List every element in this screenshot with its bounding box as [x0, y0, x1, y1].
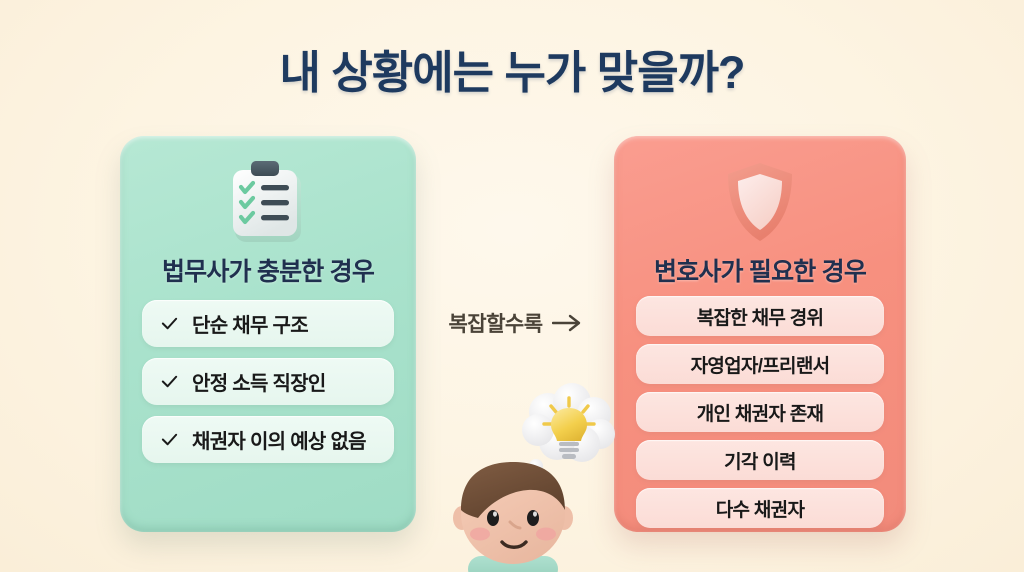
shield-icon	[614, 150, 906, 254]
list-item[interactable]: 자영업자/프리랜서	[636, 344, 884, 384]
list-item[interactable]: 채권자 이의 예상 없음	[142, 416, 394, 463]
list-item[interactable]: 복잡한 채무 경위	[636, 296, 884, 336]
arrow-right-icon	[552, 313, 582, 333]
check-icon	[160, 314, 179, 333]
list-item[interactable]: 기각 이력	[636, 440, 884, 480]
list-item-label: 자영업자/프리랜서	[691, 351, 830, 378]
list-item[interactable]: 다수 채권자	[636, 488, 884, 528]
clipboard-checklist-icon	[120, 150, 416, 254]
list-item[interactable]: 개인 채권자 존재	[636, 392, 884, 432]
thinking-boy-illustration	[440, 382, 630, 572]
list-item-label: 채권자 이의 예상 없음	[192, 425, 366, 454]
checklist-beopmusa: 단순 채무 구조 안정 소득 직장인 채권자 이의 예상 없음	[142, 300, 394, 463]
checklist-byeonhosa: 복잡한 채무 경위 자영업자/프리랜서 개인 채권자 존재 기각 이력 다수 채…	[636, 296, 884, 528]
list-item-label: 다수 채권자	[716, 495, 804, 522]
list-item-label: 기각 이력	[724, 447, 796, 474]
transition-label-text: 복잡할수록	[448, 308, 542, 338]
list-item-label: 단순 채무 구조	[192, 309, 308, 338]
card-beopmusa: 법무사가 충분한 경우 단순 채무 구조 안정 소득 직장인 채권자 이의 예상…	[120, 136, 416, 532]
boy-avatar	[440, 456, 586, 572]
list-item[interactable]: 안정 소득 직장인	[142, 358, 394, 405]
transition-label: 복잡할수록	[416, 308, 614, 338]
check-icon	[160, 372, 179, 391]
card-title-beopmusa: 법무사가 충분한 경우	[120, 252, 416, 288]
page-title: 내 상황에는 누가 맞을까?	[0, 36, 1024, 101]
check-icon	[160, 430, 179, 449]
card-title-byeonhosa: 변호사가 필요한 경우	[614, 252, 906, 288]
infographic-canvas: 내 상황에는 누가 맞을까?	[0, 0, 1024, 572]
list-item-label: 복잡한 채무 경위	[697, 303, 824, 330]
list-item[interactable]: 단순 채무 구조	[142, 300, 394, 347]
list-item-label: 개인 채권자 존재	[697, 399, 824, 426]
list-item-label: 안정 소득 직장인	[192, 367, 326, 396]
card-byeonhosa: 변호사가 필요한 경우 복잡한 채무 경위 자영업자/프리랜서 개인 채권자 존…	[614, 136, 906, 532]
